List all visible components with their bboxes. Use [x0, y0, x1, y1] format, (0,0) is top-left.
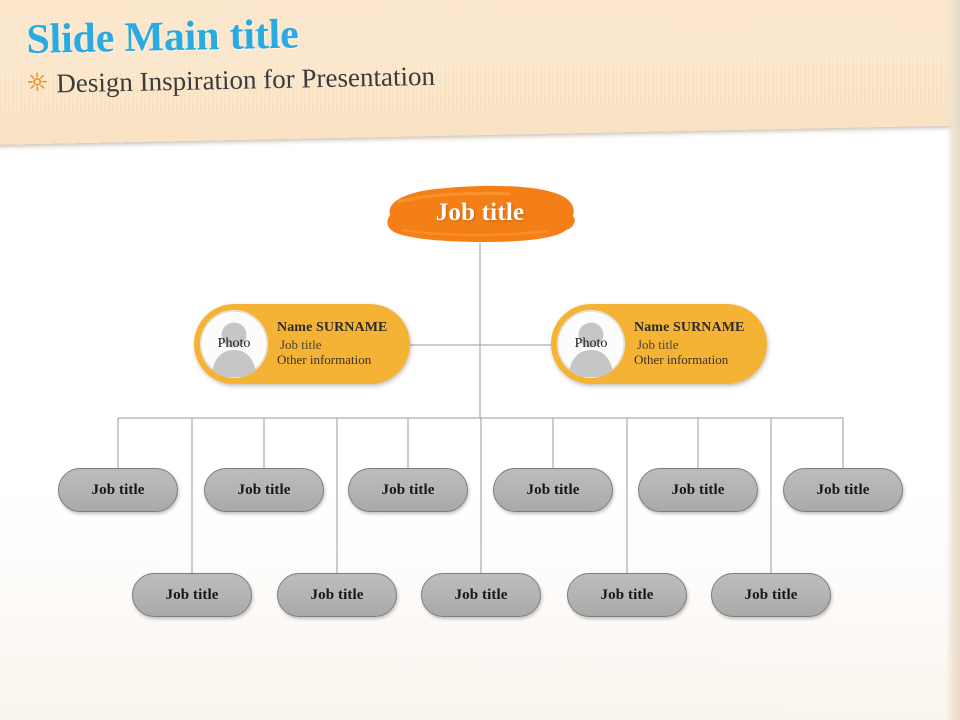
- org-root-node[interactable]: Job title: [380, 182, 580, 244]
- person-job-title: Job title: [277, 337, 387, 352]
- org-node[interactable]: Job title: [348, 468, 468, 512]
- avatar: Photo: [200, 310, 268, 378]
- org-node[interactable]: Job title: [567, 573, 687, 617]
- org-node[interactable]: Job title: [58, 468, 178, 512]
- org-node[interactable]: Job title: [277, 573, 397, 617]
- person-details: Name SURNAME Job title Other information: [634, 320, 744, 367]
- org-node-label: Job title: [817, 482, 870, 499]
- person-details: Name SURNAME Job title Other information: [277, 320, 387, 367]
- org-node-label: Job title: [672, 482, 725, 499]
- avatar: Photo: [557, 310, 625, 378]
- person-card[interactable]: Photo Name SURNAME Job title Other infor…: [551, 304, 767, 384]
- org-node-label: Job title: [92, 482, 145, 499]
- person-job-title: Job title: [634, 337, 744, 352]
- slide-canvas: Slide Main title Des: [0, 0, 960, 720]
- org-node[interactable]: Job title: [132, 573, 252, 617]
- org-node-label: Job title: [166, 587, 219, 604]
- person-name: Name SURNAME: [277, 320, 387, 337]
- person-card[interactable]: Photo Name SURNAME Job title Other infor…: [194, 304, 410, 384]
- org-node-label: Job title: [382, 482, 435, 499]
- avatar-label: Photo: [575, 337, 608, 351]
- org-node-label: Job title: [527, 482, 580, 499]
- org-chart: Job title Photo Name SURNAME Job title O…: [0, 0, 960, 720]
- org-node[interactable]: Job title: [783, 468, 903, 512]
- org-node[interactable]: Job title: [421, 573, 541, 617]
- org-node-label: Job title: [745, 587, 798, 604]
- org-node[interactable]: Job title: [638, 468, 758, 512]
- avatar-label: Photo: [218, 337, 251, 351]
- org-root-label: Job title: [436, 199, 525, 227]
- org-node[interactable]: Job title: [711, 573, 831, 617]
- person-other-info: Other information: [634, 352, 744, 367]
- person-name: Name SURNAME: [634, 320, 744, 337]
- org-node-label: Job title: [455, 587, 508, 604]
- person-other-info: Other information: [277, 352, 387, 367]
- org-node-label: Job title: [238, 482, 291, 499]
- org-node[interactable]: Job title: [493, 468, 613, 512]
- org-node-label: Job title: [601, 587, 654, 604]
- org-node-label: Job title: [311, 587, 364, 604]
- org-node[interactable]: Job title: [204, 468, 324, 512]
